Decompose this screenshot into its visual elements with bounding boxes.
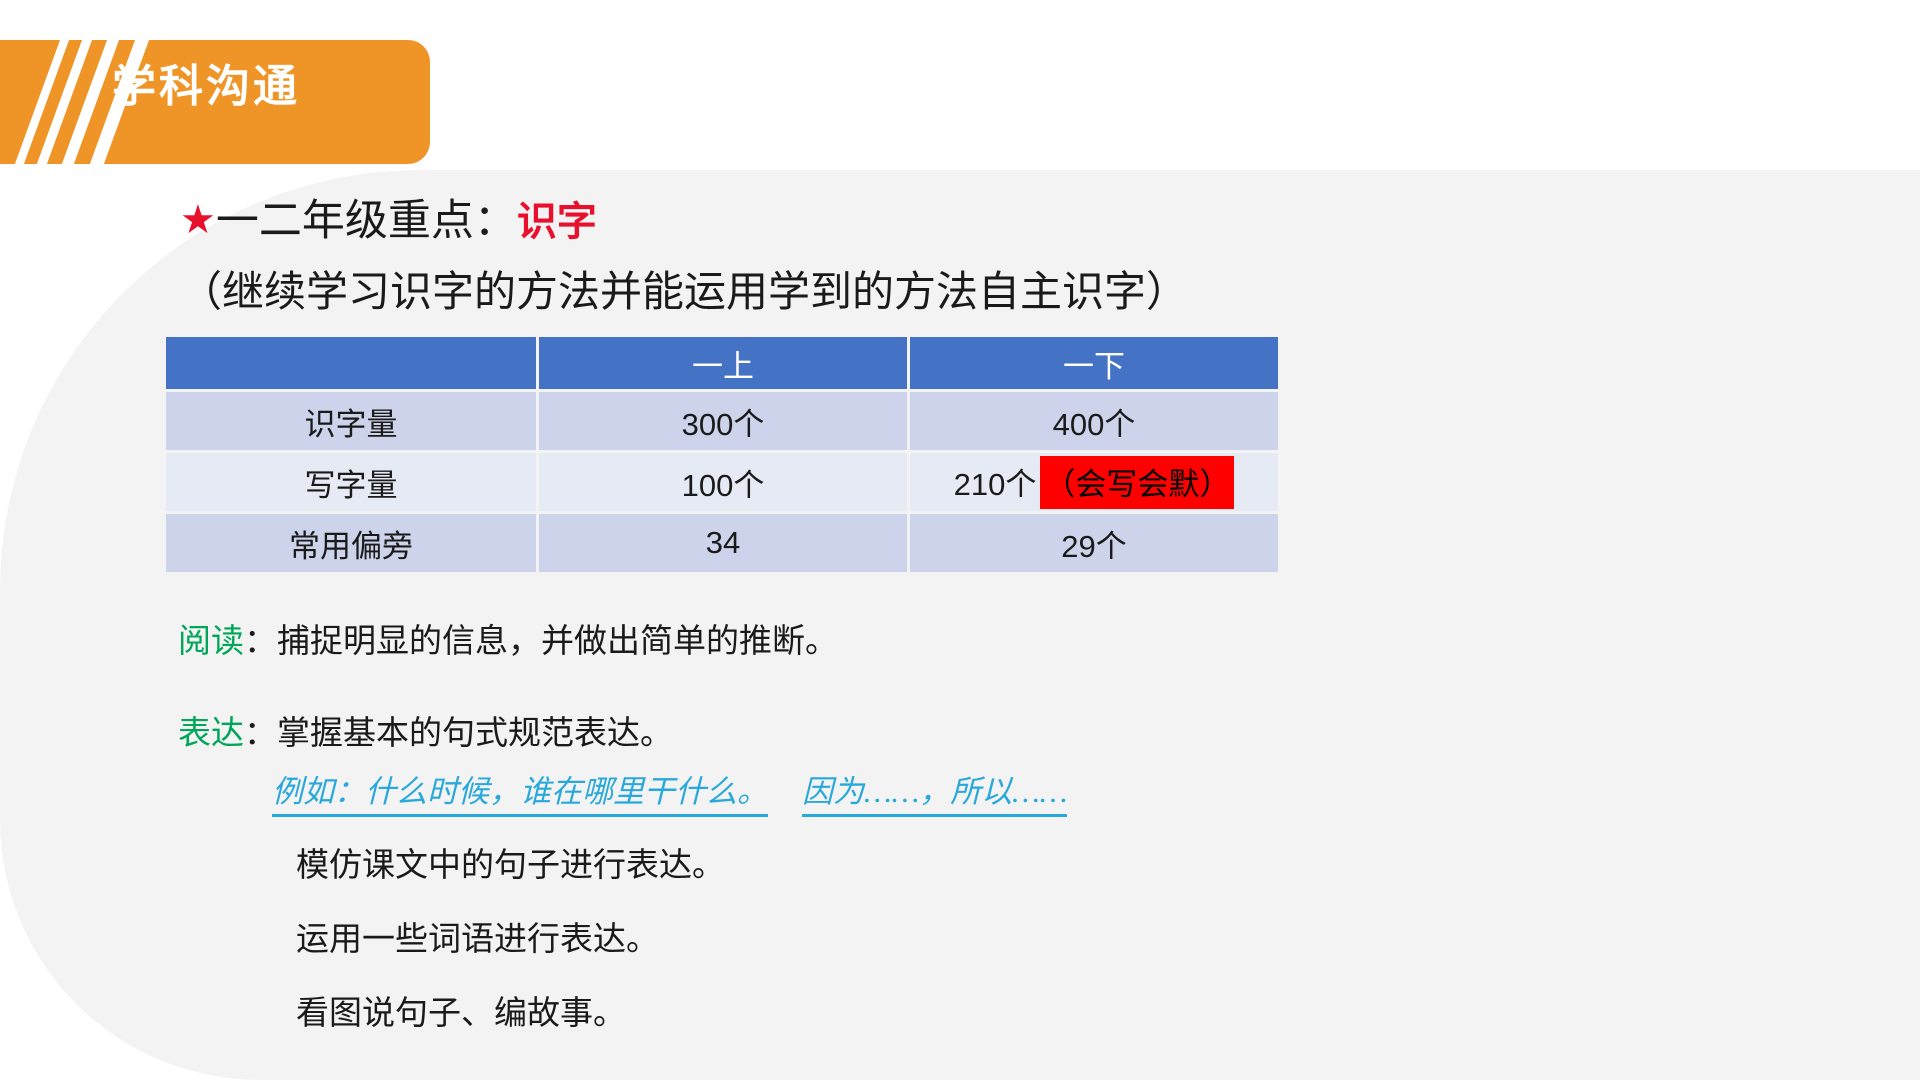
speaking-colon: ： [244,714,277,751]
page-subtitle: （继续学习识字的方法并能运用学到的方法自主识字） [180,258,1188,319]
speaking-text: 掌握基本的句式规范表达。 [277,714,673,751]
header-title: 学科沟通 [112,50,300,114]
table-header-row: 一上 一下 [166,337,1278,389]
list-item: 模仿课文中的句子进行表达。 [296,838,725,886]
speaking-label: 表达 [178,714,244,751]
speaking-line: 表达：掌握基本的句式规范表达。 [178,706,673,754]
example-sentence-pattern-a: 例如：什么时候，谁在哪里干什么。 [272,774,768,817]
row-value-term2-writing-count: 210个（会写会默） [910,453,1278,511]
row-value-term1-character-count: 300个 [539,392,907,450]
list-item: 看图说句子、编故事。 [296,986,626,1034]
reading-colon: ： [244,622,277,659]
row-value-term1-radicals: 34 [539,514,907,572]
table-header-cell-term2: 一下 [910,337,1278,389]
headline-accent: 识字 [517,200,597,244]
headline-text: 一二年级重点： [216,198,517,245]
row-label-writing-count: 写字量 [166,453,536,511]
table-header-cell-blank [166,337,536,389]
row-label-radicals: 常用偏旁 [166,514,536,572]
row-value-term2-character-count: 400个 [910,392,1278,450]
writing-count-value: 210个 [954,459,1037,504]
example-gap [768,797,802,802]
table-row: 常用偏旁 34 29个 [166,514,1278,572]
slide-root: 学科沟通 ★一二年级重点：识字 （继续学习识字的方法并能运用学到的方法自主识字）… [0,0,1920,1080]
table-row: 写字量 100个 210个（会写会默） [166,453,1278,511]
example-line: 例如：什么时候，谁在哪里干什么。因为……，所以…… [272,766,1067,811]
writing-count-highlight-badge: （会写会默） [1040,456,1234,509]
table-header-cell-term1: 一上 [539,337,907,389]
example-sentence-pattern-b: 因为……，所以…… [802,774,1067,817]
literacy-table: 一上 一下 识字量 300个 400个 写字量 100个 210个（会写会默） … [163,334,1281,575]
reading-line: 阅读：捕捉明显的信息，并做出简单的推断。 [178,614,838,662]
table-row: 识字量 300个 400个 [166,392,1278,450]
row-value-term1-writing-count: 100个 [539,453,907,511]
reading-text: 捕捉明显的信息，并做出简单的推断。 [277,622,838,659]
list-item: 运用一些词语进行表达。 [296,912,659,960]
reading-label: 阅读 [178,622,244,659]
row-value-term2-radicals: 29个 [910,514,1278,572]
star-icon: ★ [180,197,216,242]
row-label-character-count: 识字量 [166,392,536,450]
page-headline: ★一二年级重点：识字 [180,198,597,245]
